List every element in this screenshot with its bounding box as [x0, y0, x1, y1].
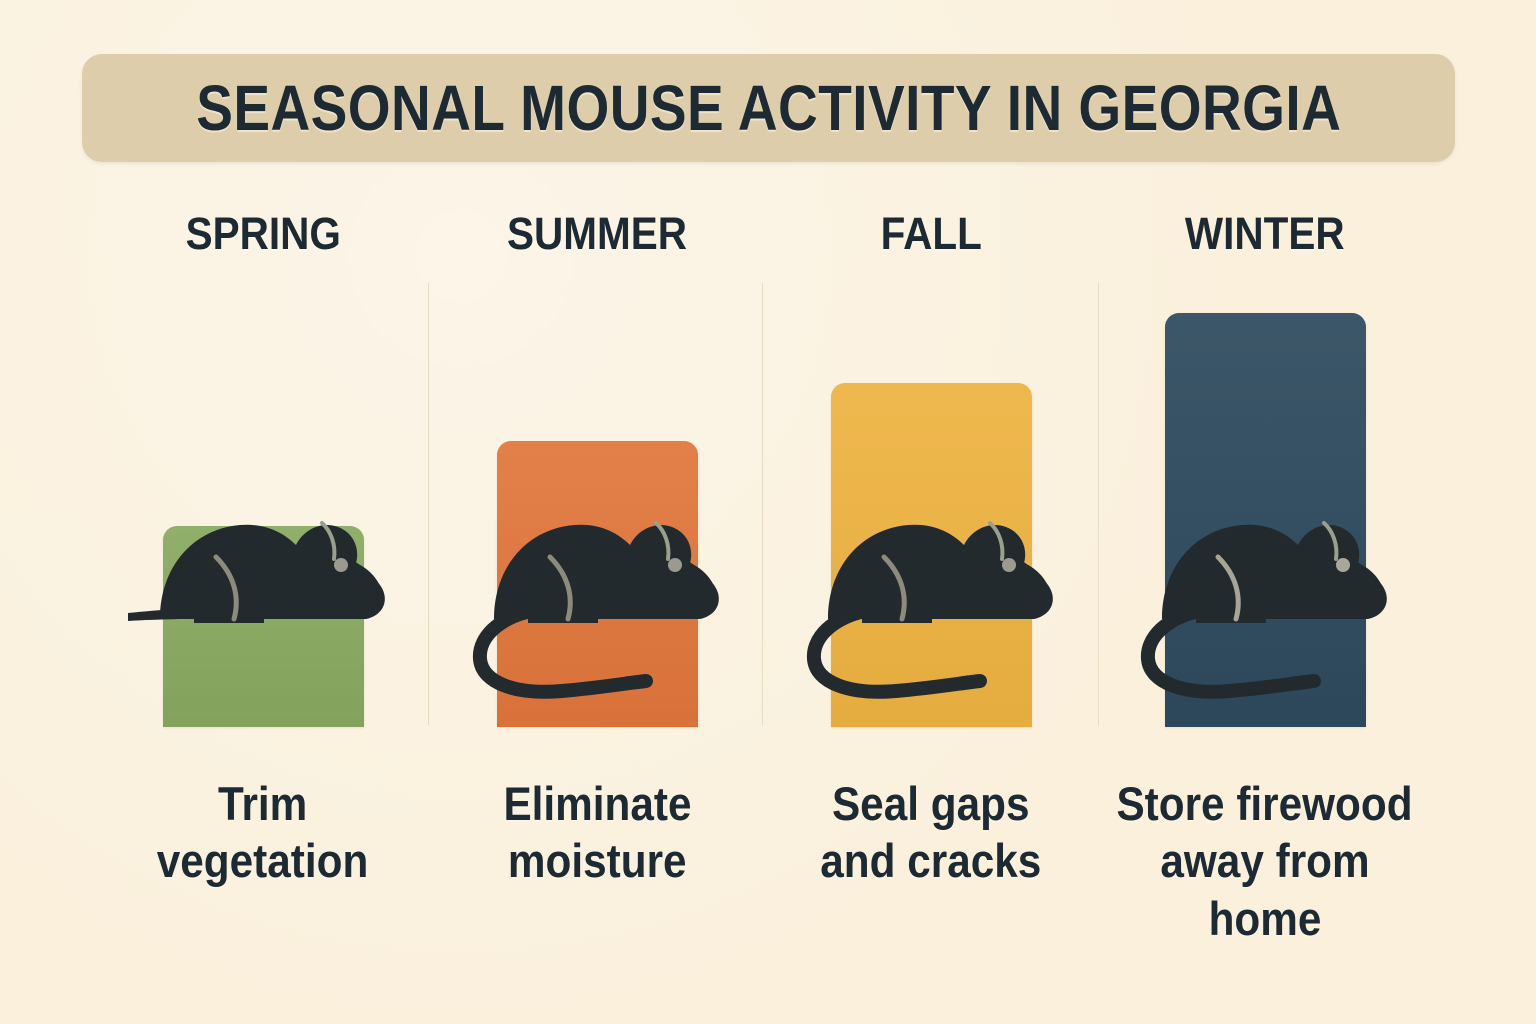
caption-line-2: and cracks	[761, 832, 1101, 889]
caption-line-1: Store firewood	[1095, 775, 1435, 832]
bar-shading	[1165, 313, 1366, 727]
bar-winter[interactable]	[1165, 313, 1366, 727]
bar-shading	[497, 441, 698, 727]
bar-summer[interactable]	[497, 441, 698, 727]
caption-fall: Seal gaps and cracks	[761, 775, 1101, 890]
page-title: SEASONAL MOUSE ACTIVITY IN GEORGIA	[82, 71, 1455, 145]
season-column-summer: SUMMER	[432, 190, 762, 910]
caption-summer: Eliminate moisture	[427, 775, 767, 890]
caption-line-1: Trim	[93, 775, 433, 832]
caption-line-2: vegetation	[93, 832, 433, 889]
caption-spring: Trim vegetation	[93, 775, 433, 890]
bar-shading	[831, 383, 1032, 727]
season-column-fall: FALL	[766, 190, 1096, 910]
title-banner: SEASONAL MOUSE ACTIVITY IN GEORGIA	[82, 54, 1455, 162]
bar-area-fall	[766, 190, 1096, 727]
bar-area-spring	[98, 190, 428, 727]
infographic-poster: SEASONAL MOUSE ACTIVITY IN GEORGIA SPRIN…	[0, 0, 1536, 1024]
bar-fall[interactable]	[831, 383, 1032, 727]
column-divider-2	[762, 283, 763, 725]
season-column-winter: WINTER	[1100, 190, 1430, 910]
caption-line-2: away from home	[1095, 832, 1435, 947]
bar-shading	[163, 526, 364, 727]
column-divider-3	[1098, 283, 1099, 725]
bar-area-summer	[432, 190, 762, 727]
bar-spring[interactable]	[163, 526, 364, 727]
caption-winter: Store firewood away from home	[1095, 775, 1435, 947]
chart-columns: SPRING	[0, 190, 1536, 910]
caption-line-1: Seal gaps	[761, 775, 1101, 832]
season-column-spring: SPRING	[98, 190, 428, 910]
caption-line-1: Eliminate	[427, 775, 767, 832]
column-divider-1	[428, 283, 429, 725]
bar-area-winter	[1100, 190, 1430, 727]
caption-line-2: moisture	[427, 832, 767, 889]
